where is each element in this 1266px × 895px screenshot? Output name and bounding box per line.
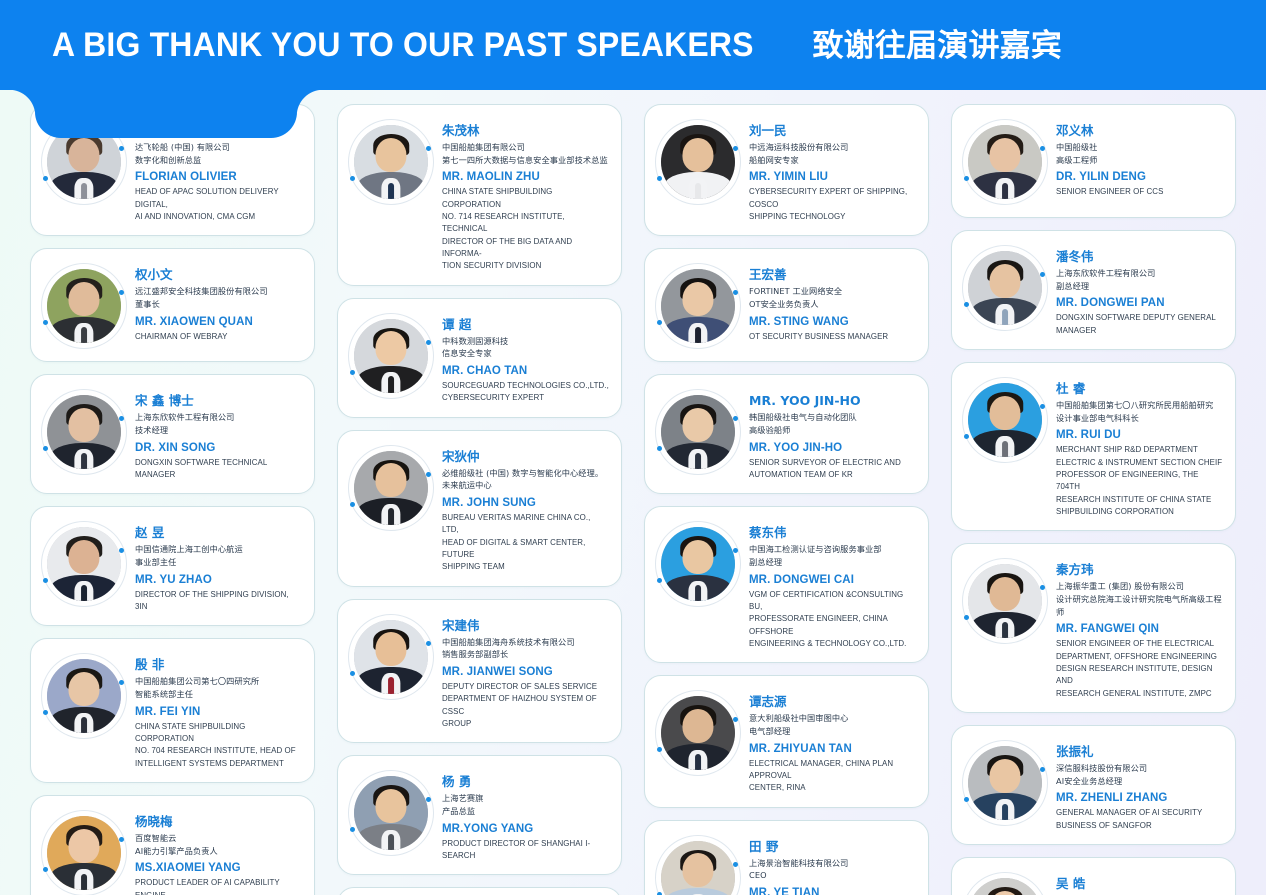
speaker-info: 朱茂林 中国船舶集团有限公司第七一四所大数据与信息安全事业部技术总监 MR. M… [442, 117, 609, 273]
speaker-name-chinese: 杜 睿 [1056, 381, 1223, 398]
avatar-accent-dot-bottom [350, 370, 355, 375]
speaker-name-english: MS.XIAOMEI YANG [135, 860, 302, 876]
speaker-info: 吴 皓 智慧芽信息科技有限公司数字化赋能部售前总监 MS. HAO WU DIR… [1056, 870, 1223, 895]
speaker-title-line: ELECTRIC & INSTRUMENT SECTION CHEIF [1056, 457, 1223, 469]
speaker-info: 田 野 上海景治智能科技有限公司CEO MR. YE TIAN JINGZHI … [749, 833, 916, 895]
speaker-org-line: 船舶网安专家 [749, 154, 916, 167]
portrait-icon [661, 527, 735, 601]
speaker-info: 谭志源 意大利船级社中国审图中心电气部经理 MR. ZHIYUAN TAN EL… [749, 688, 916, 794]
avatar-photo [354, 451, 428, 525]
avatar [962, 872, 1048, 895]
speaker-org-chinese: 上海景治智能科技有限公司CEO [749, 857, 916, 882]
speaker-org-line: 中远海运科技股份有限公司 [749, 141, 916, 154]
avatar [962, 119, 1048, 205]
speaker-org-line: 中国海工检测认证与咨询服务事业部 [749, 543, 916, 556]
avatar [962, 245, 1048, 331]
speaker-title-english: BUREAU VERITAS MARINE CHINA CO., LTD,HEA… [442, 512, 609, 574]
speaker-org-line: 必维船级社 (中国) 数字与智能化中心经理。 [442, 467, 609, 480]
speaker-org-line: 第七一四所大数据与信息安全事业部技术总监 [442, 154, 609, 167]
speaker-org-chinese: 必维船级社 (中国) 数字与智能化中心经理。未来航运中心 [442, 467, 609, 492]
portrait-icon [47, 395, 121, 469]
speaker-org-line: 上海东欣软件工程有限公司 [135, 411, 302, 424]
speaker-title-line: GENERAL MANAGER OF AI SECURITY [1056, 807, 1223, 819]
speaker-info: 谭 超 中科数测固源科技信息安全专家 MR. CHAO TAN SOURCEGU… [442, 311, 609, 405]
speaker-card[interactable]: 秦方玮 上海振华重工 (集团) 股份有限公司设计研究总院海工设计研究院电气所高级… [951, 543, 1236, 713]
speaker-card[interactable]: 杜 睿 中国船舶集团第七〇八研究所民用船舶研究设计事业部电气科科长 MR. RU… [951, 362, 1236, 531]
speaker-org-line: 技术经理 [135, 424, 302, 437]
avatar-photo [968, 251, 1042, 325]
avatar-photo [968, 564, 1042, 638]
speaker-title-line: VGM OF CERTIFICATION &CONSULTING BU, [749, 589, 916, 614]
speaker-info: 宋狄仲 必维船级社 (中国) 数字与智能化中心经理。未来航运中心 MR. JOH… [442, 443, 609, 574]
speaker-name-chinese: 宋狄仲 [442, 449, 609, 466]
avatar [41, 521, 127, 607]
avatar-photo [661, 696, 735, 770]
avatar-accent-dot-top [733, 146, 738, 151]
speaker-title-english: SOURCEGUARD TECHNOLOGIES CO.,LTD.,CYBERS… [442, 380, 609, 405]
speaker-card[interactable]: 邓义林 中国船级社高级工程师 DR. YILIN DENG SENIOR ENG… [951, 104, 1236, 218]
avatar-photo [968, 383, 1042, 457]
speaker-org-line: 数字化和创新总监 [135, 154, 302, 167]
avatar-photo [354, 620, 428, 694]
avatar-accent-dot-bottom [964, 176, 969, 181]
speaker-org-line: 智能系统部主任 [135, 688, 302, 701]
speaker-org-chinese: 百度智能云AI能力引擎产品负责人 [135, 832, 302, 857]
speaker-info: 权小文 远江盛邦安全科技集团股份有限公司董事长 MR. XIAOWEN QUAN… [135, 261, 302, 343]
avatar-accent-dot-bottom [350, 176, 355, 181]
speaker-info: 潘冬伟 上海东欣软件工程有限公司副总经理 MR. DONGWEI PAN DON… [1056, 243, 1223, 337]
avatar [962, 558, 1048, 644]
avatar [655, 263, 741, 349]
avatar-photo [47, 527, 121, 601]
speaker-card[interactable]: MR. YOO JIN-HO 韩国船级社电气与自动化团队高级验船师 MR. YO… [644, 374, 929, 494]
speaker-title-line: PRODUCT DIRECTOR OF SHANGHAI I-SEARCH [442, 838, 609, 863]
speaker-title-english: CHINA STATE SHIPBUILDING CORPORATIONNO. … [442, 186, 609, 272]
speaker-title-line: DONGXIN SOFTWARE DEPUTY GENERAL [1056, 312, 1223, 324]
speaker-card[interactable]: 杨 勇 上海艺赛旗产品总监 MR.YONG YANG PRODUCT DIREC… [337, 755, 622, 875]
speaker-title-line: INTELLIGENT SYSTEMS DEPARTMENT [135, 758, 302, 770]
speaker-name-english: MR. ZHENLI ZHANG [1056, 790, 1223, 806]
speaker-info: 宋建伟 中国船舶集团海舟系统技术有限公司销售服务部副部长 MR. JIANWEI… [442, 612, 609, 731]
avatar-photo [661, 125, 735, 199]
speaker-org-line: 中国船舶集团海舟系统技术有限公司 [442, 636, 609, 649]
speaker-name-english: MR. FANGWEI QIN [1056, 621, 1223, 637]
speaker-org-line: 上海东欣软件工程有限公司 [1056, 267, 1223, 280]
speakers-column: 邓义林 中国船级社高级工程师 DR. YILIN DENG SENIOR ENG… [951, 104, 1236, 895]
speaker-name-english: MR. XIAOWEN QUAN [135, 314, 302, 330]
speakers-column: FLORIAN OLIVIER 达飞轮船 (中国) 有限公司数字化和创新总监 F… [30, 104, 315, 895]
speaker-name-chinese: 宋 鑫 博士 [135, 393, 302, 410]
speaker-org-line: 高级工程师 [1056, 154, 1223, 167]
speaker-org-line: 中国船舶集团有限公司 [442, 141, 609, 154]
avatar-accent-dot-bottom [43, 176, 48, 181]
speaker-org-line: FORTINET 工业网络安全 [749, 285, 916, 298]
speaker-org-chinese: 上海振华重工 (集团) 股份有限公司设计研究总院海工设计研究院电气所高级工程师 [1056, 580, 1223, 618]
portrait-icon [661, 696, 735, 770]
portrait-icon [968, 125, 1042, 199]
avatar [41, 389, 127, 475]
speaker-info: 蔡东伟 中国海工检测认证与咨询服务事业部副总经理 MR. DONGWEI CAI… [749, 519, 916, 650]
avatar-photo [968, 878, 1042, 895]
speaker-title-line: MANAGER [1056, 325, 1223, 337]
speakers-column: 刘一民 中远海运科技股份有限公司船舶网安专家 MR. YIMIN LIU CYB… [644, 104, 929, 895]
speaker-card[interactable]: 宋狄仲 必维船级社 (中国) 数字与智能化中心经理。未来航运中心 MR. JOH… [337, 430, 622, 587]
avatar [655, 835, 741, 895]
speaker-org-line: 上海振华重工 (集团) 股份有限公司 [1056, 580, 1223, 593]
speaker-title-line: MERCHANT SHIP R&D DEPARTMENT [1056, 444, 1223, 456]
speaker-title-line: CENTER, RINA [749, 782, 916, 794]
speaker-info: 殷 非 中国船舶集团公司第七〇四研究所智能系统部主任 MR. FEI YIN C… [135, 651, 302, 770]
speaker-title-line: SHIPBUILDING CORPORATION [1056, 506, 1223, 518]
speaker-title-line: CHINA STATE SHIPBUILDING CORPORATION [135, 721, 302, 746]
speaker-org-chinese: 中国船级社高级工程师 [1056, 141, 1223, 166]
portrait-icon [968, 251, 1042, 325]
avatar-photo [47, 816, 121, 890]
portrait-icon [968, 878, 1042, 895]
speaker-title-english: HEAD OF APAC SOLUTION DELIVERY DIGITAL,A… [135, 186, 302, 223]
speaker-name-chinese: 潘冬伟 [1056, 249, 1223, 266]
avatar-photo [661, 269, 735, 343]
speaker-title-line: DEPARTMENT OF HAIZHOU SYSTEM OF CSSC [442, 693, 609, 718]
speaker-card[interactable]: 杨晓梅 百度智能云AI能力引擎产品负责人 MS.XIAOMEI YANG PRO… [30, 795, 315, 895]
speaker-org-line: 深信服科技股份有限公司 [1056, 762, 1223, 775]
avatar [962, 377, 1048, 463]
speaker-card[interactable]: 宋 鑫 博士 上海东欣软件工程有限公司技术经理 DR. XIN SONG DON… [30, 374, 315, 494]
portrait-icon [968, 564, 1042, 638]
speaker-name-chinese: 谭志源 [749, 694, 916, 711]
speaker-org-line: 中国信通院上海工创中心航运 [135, 543, 302, 556]
page-title-chinese: 致谢往届演讲嘉宾 [812, 28, 1062, 64]
speaker-card[interactable]: 刘一民 中远海运科技股份有限公司船舶网安专家 MR. YIMIN LIU CYB… [644, 104, 929, 236]
speaker-name-english: MR. YU ZHAO [135, 572, 302, 588]
speaker-title-english: DONGXIN SOFTWARE DEPUTY GENERALMANAGER [1056, 312, 1223, 337]
speaker-card[interactable]: 谭 超 中科数测固源科技信息安全专家 MR. CHAO TAN SOURCEGU… [337, 298, 622, 418]
portrait-icon [354, 319, 428, 393]
speaker-card[interactable]: 权小文 远江盛邦安全科技集团股份有限公司董事长 MR. XIAOWEN QUAN… [30, 248, 315, 362]
speaker-info: 刘一民 中远海运科技股份有限公司船舶网安专家 MR. YIMIN LIU CYB… [749, 117, 916, 223]
speaker-org-chinese: 中科数测固源科技信息安全专家 [442, 335, 609, 360]
speaker-name-chinese: 王宏善 [749, 267, 916, 284]
speaker-org-line: 达飞轮船 (中国) 有限公司 [135, 141, 302, 154]
speaker-org-chinese: 中国船舶集团有限公司第七一四所大数据与信息安全事业部技术总监 [442, 141, 609, 166]
portrait-icon [968, 383, 1042, 457]
avatar [41, 810, 127, 895]
speaker-title-line: DEPARTMENT, OFFSHORE ENGINEERING [1056, 651, 1223, 663]
avatar-accent-dot-top [1040, 272, 1045, 277]
page-header: A BIG THANK YOU TO OUR PAST SPEAKERS致谢往届… [0, 0, 1266, 90]
speaker-title-line: BUREAU VERITAS MARINE CHINA CO., LTD, [442, 512, 609, 537]
speaker-org-line: 中国船级社 [1056, 141, 1223, 154]
speakers-column: 朱茂林 中国船舶集团有限公司第七一四所大数据与信息安全事业部技术总监 MR. M… [337, 104, 622, 895]
speaker-title-line: NO. 704 RESEARCH INSTITUTE, HEAD OF [135, 745, 302, 757]
speakers-grid: FLORIAN OLIVIER 达飞轮船 (中国) 有限公司数字化和创新总监 F… [0, 90, 1266, 895]
speaker-title-line: DONGXIN SOFTWARE TECHNICAL MANAGER [135, 457, 302, 482]
speaker-name-english: MR. JOHN SUNG [442, 495, 609, 511]
speaker-card[interactable]: 谭志源 意大利船级社中国审图中心电气部经理 MR. ZHIYUAN TAN EL… [644, 675, 929, 807]
avatar [41, 263, 127, 349]
speaker-title-line: NO. 714 RESEARCH INSTITUTE, TECHNICAL [442, 211, 609, 236]
portrait-icon [968, 746, 1042, 820]
speaker-org-line: 副总经理 [1056, 280, 1223, 293]
speaker-org-chinese: 中国船舶集团海舟系统技术有限公司销售服务部副部长 [442, 636, 609, 661]
speaker-org-chinese: 远江盛邦安全科技集团股份有限公司董事长 [135, 285, 302, 310]
speaker-title-english: CHAIRMAN OF WEBRAY [135, 331, 302, 343]
speaker-title-line: SENIOR ENGINEER OF THE ELECTRICAL [1056, 638, 1223, 650]
speaker-name-english: MR. MAOLIN ZHU [442, 169, 609, 185]
avatar [348, 313, 434, 399]
speaker-org-line: 设计事业部电气科科长 [1056, 412, 1223, 425]
avatar [348, 119, 434, 205]
speaker-title-english: SENIOR ENGINEER OF CCS [1056, 186, 1223, 198]
speaker-name-english: MR.YONG YANG [442, 821, 609, 837]
speaker-org-line: 百度智能云 [135, 832, 302, 845]
speaker-org-line: 意大利船级社中国审图中心 [749, 712, 916, 725]
speaker-info: MR. YOO JIN-HO 韩国船级社电气与自动化团队高级验船师 MR. YO… [749, 387, 916, 481]
speaker-name-english: MR. CHAO TAN [442, 363, 609, 379]
speaker-name-english: FLORIAN OLIVIER [135, 169, 302, 185]
speaker-title-line: PROFESSORATE ENGINEER, CHINA OFFSHORE [749, 613, 916, 638]
portrait-icon [661, 269, 735, 343]
header-tab-shape [35, 90, 297, 138]
speaker-org-chinese: 中国信通院上海工创中心航运事业部主任 [135, 543, 302, 568]
speaker-name-chinese: 赵 昱 [135, 525, 302, 542]
speaker-name-english: MR. RUI DU [1056, 427, 1223, 443]
portrait-icon [354, 451, 428, 525]
speaker-org-line: 中国船舶集团公司第七〇四研究所 [135, 675, 302, 688]
speaker-info: 杨晓梅 百度智能云AI能力引擎产品负责人 MS.XIAOMEI YANG PRO… [135, 808, 302, 895]
avatar-photo [47, 395, 121, 469]
speaker-title-english: ELECTRICAL MANAGER, CHINA PLAN APPROVALC… [749, 758, 916, 795]
speaker-name-english: DR. XIN SONG [135, 440, 302, 456]
speaker-card[interactable]: 殷 非 中国船舶集团公司第七〇四研究所智能系统部主任 MR. FEI YIN C… [30, 638, 315, 783]
speaker-card[interactable]: 潘冬伟 上海东欣软件工程有限公司副总经理 MR. DONGWEI PAN DON… [951, 230, 1236, 350]
speaker-name-chinese: 权小文 [135, 267, 302, 284]
speaker-name-chinese: 谭 超 [442, 317, 609, 334]
speaker-title-line: DIRECTOR OF THE BIG DATA AND INFORMA- [442, 236, 609, 261]
speaker-card[interactable]: 王宏善 FORTINET 工业网络安全OT安全业务负责人 MR. STING W… [644, 248, 929, 362]
avatar-accent-dot-top [733, 862, 738, 867]
speaker-title-line: SENIOR SURVEYOR OF ELECTRIC AND [749, 457, 916, 469]
speaker-name-chinese: 吴 皓 [1056, 876, 1223, 893]
avatar-accent-dot-bottom [964, 434, 969, 439]
speaker-org-line: 韩国船级社电气与自动化团队 [749, 411, 916, 424]
speaker-title-line: SHIPPING TECHNOLOGY [749, 211, 916, 223]
speaker-title-line: SHIPPING TEAM [442, 561, 609, 573]
portrait-icon [47, 659, 121, 733]
speaker-info: 杨 勇 上海艺赛旗产品总监 MR.YONG YANG PRODUCT DIREC… [442, 768, 609, 862]
speaker-org-line: 电气部经理 [749, 725, 916, 738]
page-title: A BIG THANK YOU TO OUR PAST SPEAKERS致谢往届… [52, 28, 1062, 62]
avatar [655, 521, 741, 607]
speaker-name-english: MR. YOO JIN-HO [749, 440, 916, 456]
speaker-title-line: ELECTRICAL MANAGER, CHINA PLAN APPROVAL [749, 758, 916, 783]
avatar-accent-dot-top [1040, 404, 1045, 409]
speaker-title-english: CHINA STATE SHIPBUILDING CORPORATIONNO. … [135, 721, 302, 770]
speaker-org-line: 产品总监 [442, 805, 609, 818]
avatar [41, 653, 127, 739]
speaker-card[interactable]: 田 野 上海景治智能科技有限公司CEO MR. YE TIAN JINGZHI … [644, 820, 929, 895]
speaker-title-line: CYBERSECURITY EXPERT OF SHIPPING, COSCO [749, 186, 916, 211]
avatar-photo [354, 319, 428, 393]
speaker-title-line: HEAD OF DIGITAL & SMART CENTER, FUTURE [442, 537, 609, 562]
avatar-photo [354, 125, 428, 199]
speaker-title-english: GENERAL MANAGER OF AI SECURITYBUSINESS O… [1056, 807, 1223, 832]
speaker-org-chinese: 上海东欣软件工程有限公司副总经理 [1056, 267, 1223, 292]
speaker-org-line: 事业部主任 [135, 556, 302, 569]
speaker-org-line: 上海景治智能科技有限公司 [749, 857, 916, 870]
avatar [348, 614, 434, 700]
speaker-title-line: SOURCEGUARD TECHNOLOGIES CO.,LTD., [442, 380, 609, 392]
speaker-title-line: ENGINEERING & TECHNOLOGY CO.,LTD. [749, 638, 916, 650]
speaker-info: 王宏善 FORTINET 工业网络安全OT安全业务负责人 MR. STING W… [749, 261, 916, 343]
speaker-name-chinese: 张振礼 [1056, 744, 1223, 761]
speaker-org-chinese: 中国船舶集团公司第七〇四研究所智能系统部主任 [135, 675, 302, 700]
avatar-accent-dot-top [1040, 146, 1045, 151]
speaker-title-english: DONGXIN SOFTWARE TECHNICAL MANAGER [135, 457, 302, 482]
speaker-title-english: SENIOR SURVEYOR OF ELECTRIC ANDAUTOMATIO… [749, 457, 916, 482]
speaker-title-line: RESEARCH INSTITUTE OF CHINA STATE [1056, 494, 1223, 506]
speaker-name-english: MR. ZHIYUAN TAN [749, 741, 916, 757]
avatar-accent-dot-bottom [657, 176, 662, 181]
speaker-org-line: 远江盛邦安全科技集团股份有限公司 [135, 285, 302, 298]
avatar [655, 389, 741, 475]
speaker-title-english: DEPUTY DIRECTOR OF SALES SERVICEDEPARTME… [442, 681, 609, 730]
speaker-title-english: VGM OF CERTIFICATION &CONSULTING BU,PROF… [749, 589, 916, 651]
speaker-name-english: MR. YE TIAN [749, 885, 916, 895]
speaker-title-line: OT SECURITY BUSINESS MANAGER [749, 331, 916, 343]
speaker-title-line: CYBERSECURITY EXPERT [442, 392, 609, 404]
speaker-org-line: 副总经理 [749, 556, 916, 569]
avatar [348, 445, 434, 531]
portrait-icon [661, 841, 735, 895]
avatar-photo [661, 841, 735, 895]
speaker-org-chinese: 中国海工检测认证与咨询服务事业部副总经理 [749, 543, 916, 568]
portrait-icon [354, 125, 428, 199]
avatar-photo [47, 269, 121, 343]
speaker-title-line: BUSINESS OF SANGFOR [1056, 820, 1223, 832]
speaker-org-line: 设计研究总院海工设计研究院电气所高级工程师 [1056, 593, 1223, 618]
speaker-name-chinese: 邓义林 [1056, 123, 1223, 140]
speaker-title-line: AI AND INNOVATION, CMA CGM [135, 211, 302, 223]
speaker-name-english: MR. JIANWEI SONG [442, 664, 609, 680]
speaker-title-line: DEPUTY DIRECTOR OF SALES SERVICE [442, 681, 609, 693]
portrait-icon [47, 816, 121, 890]
speaker-org-chinese: 中远海运科技股份有限公司船舶网安专家 [749, 141, 916, 166]
avatar-accent-dot-top [426, 340, 431, 345]
speaker-card[interactable]: 詹欣宇 上海菲菲电子有限公司技术总监 MR. XINYU ZHAN TECHNI… [337, 887, 622, 895]
speaker-org-chinese: 深信服科技股份有限公司AI安全业务总经理 [1056, 762, 1223, 787]
speaker-name-chinese: 刘一民 [749, 123, 916, 140]
speaker-org-chinese: 韩国船级社电气与自动化团队高级验船师 [749, 411, 916, 436]
speaker-title-line: PROFESSOR OF ENGINEERING, THE 704TH [1056, 469, 1223, 494]
avatar [962, 740, 1048, 826]
speaker-name-english: MR. YIMIN LIU [749, 169, 916, 185]
speaker-info: 张振礼 深信服科技股份有限公司AI安全业务总经理 MR. ZHENLI ZHAN… [1056, 738, 1223, 832]
speaker-org-chinese: 意大利船级社中国审图中心电气部经理 [749, 712, 916, 737]
speaker-org-line: 上海艺赛旗 [442, 792, 609, 805]
speaker-card[interactable]: 赵 昱 中国信通院上海工创中心航运事业部主任 MR. YU ZHAO DIREC… [30, 506, 315, 626]
speaker-name-english: MR. STING WANG [749, 314, 916, 330]
speaker-org-chinese: 上海东欣软件工程有限公司技术经理 [135, 411, 302, 436]
speaker-title-line: GROUP [442, 718, 609, 730]
portrait-icon [661, 125, 735, 199]
speaker-title-english: DIRECTOR OF THE SHIPPING DIVISION, 3IN [135, 589, 302, 614]
avatar [348, 770, 434, 856]
speaker-card[interactable]: 蔡东伟 中国海工检测认证与咨询服务事业部副总经理 MR. DONGWEI CAI… [644, 506, 929, 663]
avatar-photo [47, 659, 121, 733]
avatar-photo [968, 125, 1042, 199]
speaker-org-chinese: 中国船舶集团第七〇八研究所民用船舶研究设计事业部电气科科长 [1056, 399, 1223, 424]
avatar-photo [354, 776, 428, 850]
speaker-card[interactable]: 宋建伟 中国船舶集团海舟系统技术有限公司销售服务部副部长 MR. JIANWEI… [337, 599, 622, 744]
page-title-english: A BIG THANK YOU TO OUR PAST SPEAKERS [52, 28, 754, 62]
speaker-name-chinese: 秦方玮 [1056, 562, 1223, 579]
speaker-org-line: 信息安全专家 [442, 347, 609, 360]
speaker-name-english: MR. DONGWEI CAI [749, 572, 916, 588]
speaker-org-line: 董事长 [135, 298, 302, 311]
speaker-title-line: PRODUCT LEADER OF AI CAPABILITY ENGINE， [135, 877, 302, 895]
speaker-title-line: RESEARCH GENERAL INSTITUTE, ZMPC [1056, 688, 1223, 700]
speaker-info: 赵 昱 中国信通院上海工创中心航运事业部主任 MR. YU ZHAO DIREC… [135, 519, 302, 613]
speaker-name-chinese: 杨 勇 [442, 774, 609, 791]
portrait-icon [354, 776, 428, 850]
avatar-photo [968, 746, 1042, 820]
speaker-title-line: CHINA STATE SHIPBUILDING CORPORATION [442, 186, 609, 211]
speaker-org-chinese: 上海艺赛旗产品总监 [442, 792, 609, 817]
speaker-name-english: DR. YILIN DENG [1056, 169, 1223, 185]
speaker-title-line: DESIGN RESEARCH INSTITUTE, DESIGN AND [1056, 663, 1223, 688]
speaker-title-line: AUTOMATION TEAM OF KR [749, 469, 916, 481]
speaker-card[interactable]: 朱茂林 中国船舶集团有限公司第七一四所大数据与信息安全事业部技术总监 MR. M… [337, 104, 622, 286]
speaker-info: 杜 睿 中国船舶集团第七〇八研究所民用船舶研究设计事业部电气科科长 MR. RU… [1056, 375, 1223, 518]
avatar-accent-dot-bottom [350, 502, 355, 507]
avatar-photo [661, 395, 735, 469]
speaker-info: 邓义林 中国船级社高级工程师 DR. YILIN DENG SENIOR ENG… [1056, 117, 1223, 199]
speaker-org-chinese: FORTINET 工业网络安全OT安全业务负责人 [749, 285, 916, 310]
speaker-org-line: 中科数测固源科技 [442, 335, 609, 348]
speaker-title-english: PRODUCT DIRECTOR OF SHANGHAI I-SEARCH [442, 838, 609, 863]
speaker-card[interactable]: 张振礼 深信服科技股份有限公司AI安全业务总经理 MR. ZHENLI ZHAN… [951, 725, 1236, 845]
portrait-icon [354, 620, 428, 694]
speaker-name-chinese: 杨晓梅 [135, 814, 302, 831]
speaker-card[interactable]: 吴 皓 智慧芽信息科技有限公司数字化赋能部售前总监 MS. HAO WU DIR… [951, 857, 1236, 895]
speaker-org-line: 中国船舶集团第七〇八研究所民用船舶研究 [1056, 399, 1223, 412]
speaker-name-chinese: MR. YOO JIN-HO [749, 393, 916, 410]
speaker-org-line: AI安全业务总经理 [1056, 775, 1223, 788]
speaker-name-chinese: 朱茂林 [442, 123, 609, 140]
portrait-icon [47, 527, 121, 601]
speaker-title-english: MERCHANT SHIP R&D DEPARTMENTELECTRIC & I… [1056, 444, 1223, 518]
speaker-name-english: MR. FEI YIN [135, 704, 302, 720]
speaker-org-chinese: 达飞轮船 (中国) 有限公司数字化和创新总监 [135, 141, 302, 166]
speaker-title-line: HEAD OF APAC SOLUTION DELIVERY DIGITAL, [135, 186, 302, 211]
speaker-title-line: DIRECTOR OF THE SHIPPING DIVISION, 3IN [135, 589, 302, 614]
portrait-icon [661, 395, 735, 469]
portrait-icon [47, 269, 121, 343]
speaker-title-english: CYBERSECURITY EXPERT OF SHIPPING, COSCOS… [749, 186, 916, 223]
speaker-org-line: 销售服务部副部长 [442, 648, 609, 661]
speaker-info: 秦方玮 上海振华重工 (集团) 股份有限公司设计研究总院海工设计研究院电气所高级… [1056, 556, 1223, 700]
speaker-title-english: OT SECURITY BUSINESS MANAGER [749, 331, 916, 343]
avatar-accent-dot-top [119, 146, 124, 151]
speaker-title-line: SENIOR ENGINEER OF CCS [1056, 186, 1223, 198]
speaker-name-english: MR. DONGWEI PAN [1056, 295, 1223, 311]
speaker-org-line: 高级验船师 [749, 424, 916, 437]
avatar-accent-dot-top [426, 641, 431, 646]
avatar-accent-dot-bottom [964, 302, 969, 307]
speaker-title-line: TION SECURITY DIVISION [442, 260, 609, 272]
avatar-accent-dot-bottom [350, 671, 355, 676]
